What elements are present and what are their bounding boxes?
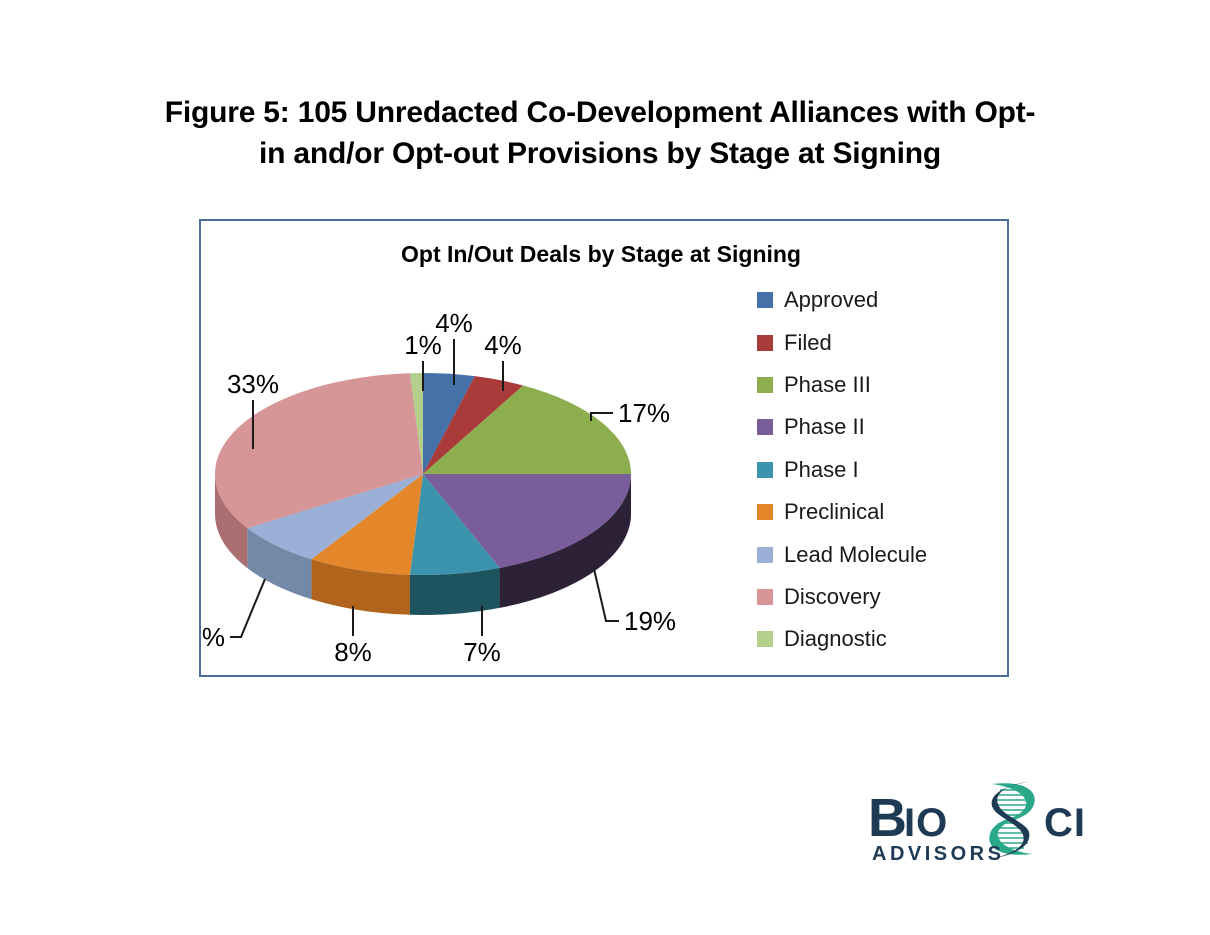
- pie-chart-plot: 1% 4% 4% 17% 19% 7% 8% 7% 33%: [201, 269, 761, 677]
- legend-item-label: Approved: [784, 289, 878, 311]
- pie-chart-svg: 1% 4% 4% 17% 19% 7% 8% 7% 33%: [201, 269, 761, 677]
- legend-item-label: Discovery: [784, 586, 881, 608]
- value-label-phase1: 7%: [463, 637, 501, 667]
- value-label-filed: 4%: [484, 330, 522, 360]
- legend-item-label: Phase I: [784, 459, 859, 481]
- value-label-preclinical: 8%: [334, 637, 372, 667]
- chart-legend: ApprovedFiledPhase IIIPhase IIPhase IPre…: [757, 279, 1007, 661]
- legend-swatch-icon: [757, 631, 773, 647]
- value-label-discovery: 33%: [227, 369, 279, 399]
- legend-item-phase-iii[interactable]: Phase III: [757, 364, 1007, 406]
- logo-svg: B IO CI ADVISORS: [866, 778, 1116, 866]
- value-label-phase3: 17%: [618, 398, 670, 428]
- legend-item-label: Filed: [784, 332, 832, 354]
- logo-text-ci: CI: [1044, 801, 1086, 845]
- value-label-phase2: 19%: [624, 606, 676, 636]
- legend-item-label: Phase III: [784, 374, 871, 396]
- legend-item-label: Diagnostic: [784, 628, 887, 650]
- chart-title: Opt In/Out Deals by Stage at Signing: [201, 241, 1007, 268]
- pie-top-face: [215, 373, 631, 575]
- legend-item-approved[interactable]: Approved: [757, 279, 1007, 321]
- chart-title-text: Opt In/Out Deals by Stage at Signing: [198, 241, 1004, 268]
- chart-container: Opt In/Out Deals by Stage at Signing: [199, 219, 1009, 677]
- logo-text-io: IO: [904, 801, 948, 845]
- biosci-advisors-logo: B IO CI ADVISORS: [866, 778, 1116, 866]
- legend-item-filed[interactable]: Filed: [757, 321, 1007, 363]
- figure-title: Figure 5: 105 Unredacted Co-Development …: [100, 92, 1100, 175]
- legend-swatch-icon: [757, 292, 773, 308]
- legend-item-phase-i[interactable]: Phase I: [757, 449, 1007, 491]
- legend-item-discovery[interactable]: Discovery: [757, 576, 1007, 618]
- legend-item-phase-ii[interactable]: Phase II: [757, 406, 1007, 448]
- legend-item-preclinical[interactable]: Preclinical: [757, 491, 1007, 533]
- figure-title-line-1: Figure 5: 105 Unredacted Co-Development …: [100, 92, 1100, 133]
- value-label-lead-molecule: 7%: [201, 622, 225, 652]
- logo-text-b: B: [868, 788, 907, 848]
- leader-line-phase2: [594, 569, 619, 621]
- figure-title-line-2: in and/or Opt-out Provisions by Stage at…: [100, 133, 1100, 174]
- legend-swatch-icon: [757, 377, 773, 393]
- legend-swatch-icon: [757, 419, 773, 435]
- legend-item-label: Phase II: [784, 416, 865, 438]
- legend-swatch-icon: [757, 504, 773, 520]
- legend-item-label: Preclinical: [784, 501, 884, 523]
- legend-swatch-icon: [757, 547, 773, 563]
- legend-item-diagnostic[interactable]: Diagnostic: [757, 618, 1007, 660]
- legend-swatch-icon: [757, 589, 773, 605]
- logo-wordmark: B IO CI ADVISORS: [868, 788, 1086, 865]
- value-label-approved: 4%: [435, 308, 473, 338]
- leader-line-lead-molecule: [230, 579, 265, 637]
- legend-swatch-icon: [757, 335, 773, 351]
- legend-item-lead-molecule[interactable]: Lead Molecule: [757, 533, 1007, 575]
- legend-item-label: Lead Molecule: [784, 544, 927, 566]
- legend-swatch-icon: [757, 462, 773, 478]
- logo-tagline: ADVISORS: [872, 843, 1004, 865]
